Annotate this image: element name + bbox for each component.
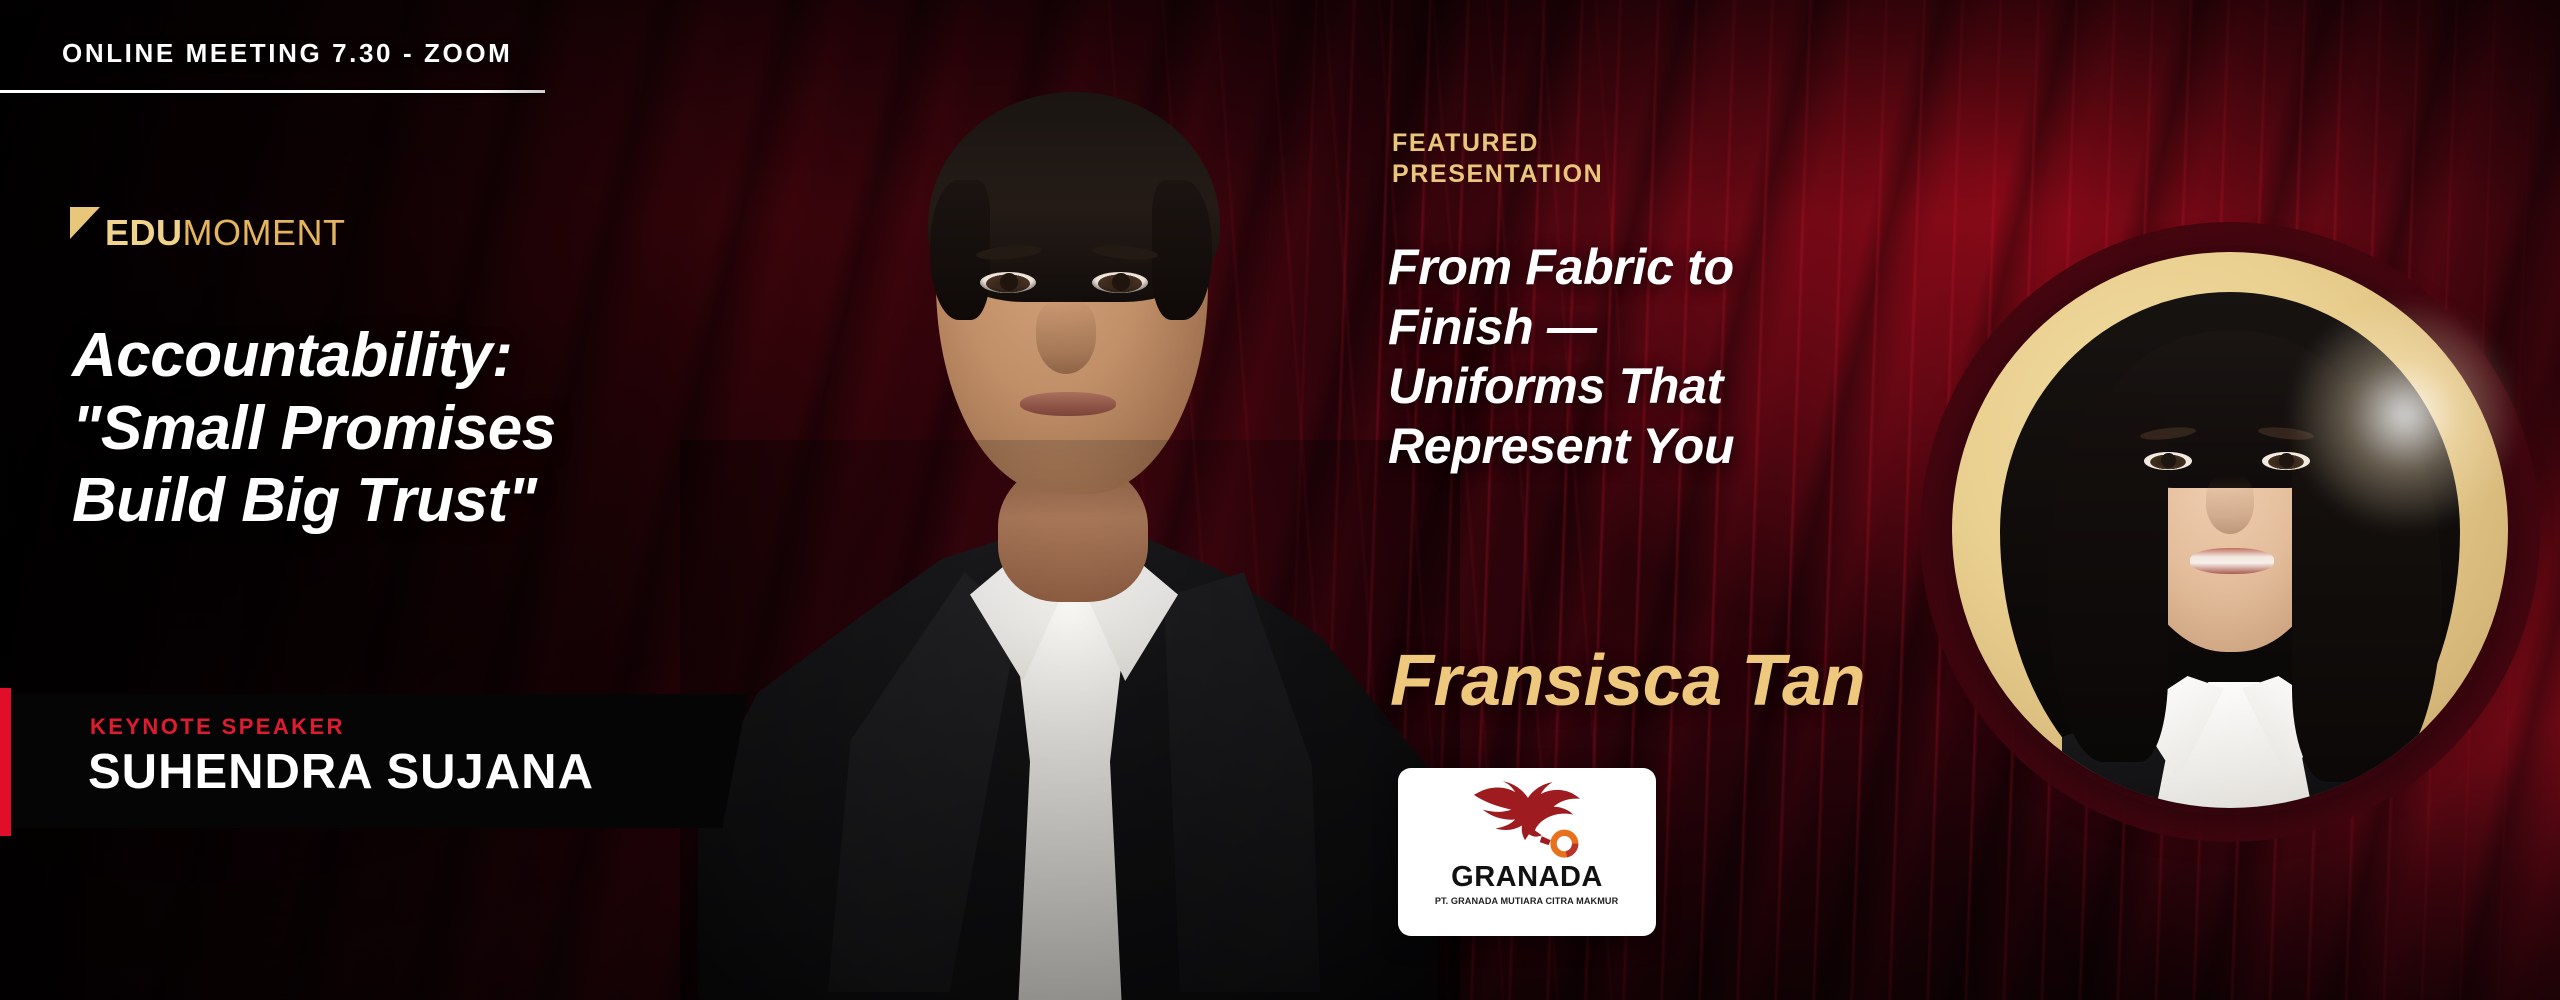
presentation-title-line-3: Uniforms That (1388, 357, 1948, 417)
meeting-eyebrow-text: ONLINE MEETING 7.30 - ZOOM (62, 38, 512, 69)
speaker-mouth (1020, 392, 1116, 416)
featured-speaker-name: Fransisca Tan (1390, 640, 1865, 722)
header-divider-rule (0, 90, 545, 93)
speaker-pupil-right (1112, 273, 1130, 291)
logo-word-moment: MOMENT (183, 212, 346, 253)
logo-word-edu: EDU (105, 212, 183, 253)
keynote-red-accent-bar (0, 688, 11, 836)
presentation-title-line-4: Represent You (1388, 417, 1948, 477)
keynote-label: KEYNOTE SPEAKER (90, 714, 345, 740)
promo-banner: ONLINE MEETING 7.30 - ZOOM EDUMOMENT Acc… (0, 0, 2560, 1000)
presentation-title-line-1: From Fabric to (1388, 238, 1948, 298)
keynote-speaker-name: SUHENDRA SUJANA (88, 744, 594, 800)
featured-presentation-kicker: FEATURED PRESENTATION (1392, 128, 1603, 189)
speaker-hair-side-left (930, 180, 990, 320)
sponsor-logo-card: GRANADA PT. GRANADA MUTIARA CITRA MAKMUR (1398, 768, 1656, 936)
speaker-nose (1036, 298, 1096, 374)
portrait-smile (2190, 548, 2274, 574)
edumoment-logo: EDUMOMENT (70, 215, 346, 251)
featured-kicker-line-1: FEATURED (1392, 128, 1603, 159)
portrait-nose (2206, 474, 2254, 534)
featured-speaker-portrait (1952, 252, 2508, 808)
presentation-title-line-2: Finish — (1388, 298, 1948, 358)
sponsor-name: GRANADA (1451, 863, 1603, 892)
logo-wordmark: EDUMOMENT (105, 215, 346, 251)
speaker-hair-side-right (1152, 180, 1212, 320)
featured-kicker-line-2: PRESENTATION (1392, 159, 1603, 190)
keynote-speaker-photo (640, 10, 1500, 1000)
eagle-icon (1468, 778, 1586, 862)
speaker-pupil-left (1000, 273, 1018, 291)
sponsor-legal-name: PT. GRANADA MUTIARA CITRA MAKMUR (1435, 896, 1618, 907)
portrait-pupil-left (2161, 453, 2176, 468)
presentation-title: From Fabric to Finish — Uniforms That Re… (1388, 238, 1948, 476)
portrait-pupil-right (2279, 453, 2294, 468)
